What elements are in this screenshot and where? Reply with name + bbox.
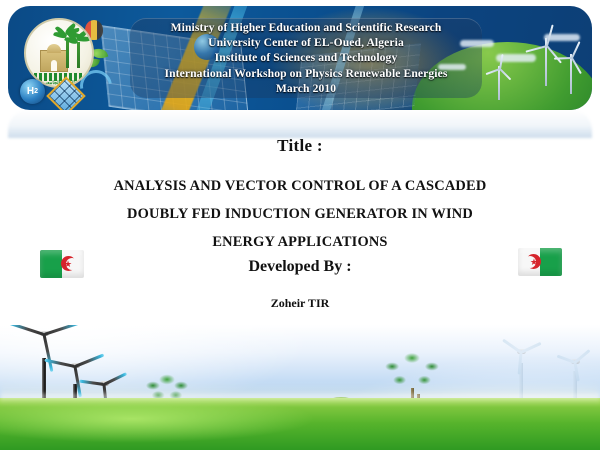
h2-label: H	[27, 86, 34, 97]
algeria-flag-right: ★	[518, 248, 562, 276]
h2-hydrogen-icon: H2	[20, 79, 45, 104]
title-label: Title :	[0, 136, 600, 156]
slide-page: Ministry of Higher Education and Scienti…	[0, 0, 600, 450]
header-line-3: Institute of Sciences and Technology	[130, 50, 482, 65]
header-text-block: Ministry of Higher Education and Scienti…	[130, 20, 482, 96]
header-line-4: International Workshop on Physics Renewa…	[130, 66, 482, 81]
h2-subscript: 2	[34, 88, 38, 95]
flag-star-icon: ★	[64, 260, 72, 269]
header-banner: Ministry of Higher Education and Scienti…	[8, 6, 592, 110]
developed-by-label: Developed By :	[0, 258, 600, 276]
paper-title-line-3: ENERGY APPLICATIONS	[50, 228, 550, 256]
algeria-flag-left: ★	[40, 250, 84, 278]
paper-title-line-1: ANALYSIS AND VECTOR CONTROL OF A CASCADE…	[50, 172, 550, 200]
header-line-5: March 2010	[130, 81, 482, 96]
banner-wind-turbine	[484, 54, 514, 100]
paper-title-line-2: DOUBLY FED INDUCTION GENERATOR IN WIND	[50, 200, 550, 228]
banner-reflection	[8, 110, 592, 138]
grass-field	[0, 398, 600, 450]
header-line-2: University Center of EL-Oued, Algeria	[130, 35, 482, 50]
flag-star-icon: ★	[530, 258, 538, 267]
landscape-image	[0, 325, 600, 450]
author-name: Zoheir TIR	[0, 296, 600, 311]
palm-tree-emblem-icon-2	[72, 36, 84, 68]
university-logo: المركز الجامعي	[24, 18, 94, 88]
paper-title: ANALYSIS AND VECTOR CONTROL OF A CASCADE…	[50, 172, 550, 256]
banner-wind-turbine	[554, 40, 588, 94]
header-line-1: Ministry of Higher Education and Scienti…	[130, 20, 482, 35]
